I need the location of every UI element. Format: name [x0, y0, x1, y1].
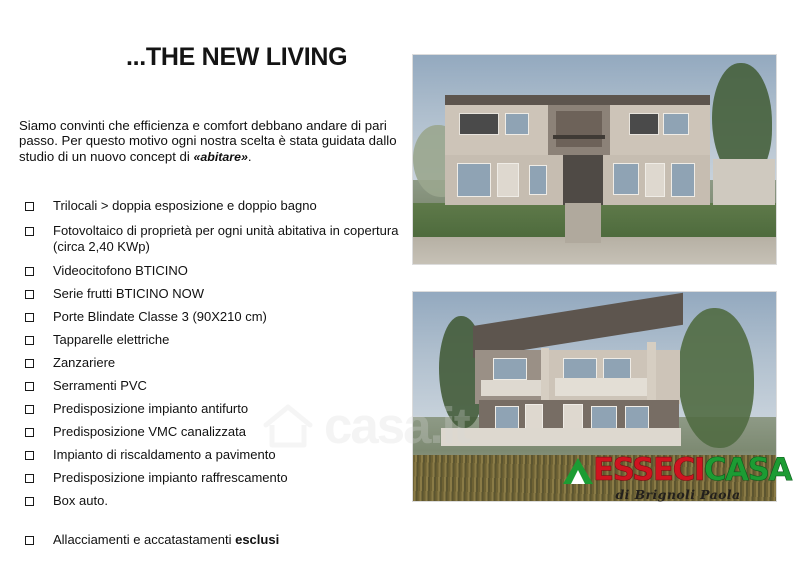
checkbox-square-icon: [25, 359, 34, 368]
feature-label: Predisposizione VMC canalizzata: [53, 424, 246, 440]
checkbox-square-icon: [25, 267, 34, 276]
list-item: Zanzariere: [19, 355, 411, 371]
page-title: ...THE NEW LIVING: [126, 43, 347, 72]
list-item: Fotovoltaico di proprietà per ogni unità…: [19, 223, 411, 255]
balcony-front-a: [481, 380, 547, 396]
feature-label: Serie frutti BTICINO NOW: [53, 286, 204, 302]
boundary-wall: [713, 159, 775, 205]
window-lower-mid: [529, 165, 547, 195]
feature-label: Fotovoltaico di proprietà per ogni unità…: [53, 223, 411, 255]
feature-label: Predisposizione impianto antifurto: [53, 401, 248, 417]
feature-label: Videocitofono BTICINO: [53, 263, 188, 279]
list-item: Trilocali > doppia esposizione e doppio …: [19, 198, 411, 214]
balcony-rail: [553, 135, 605, 139]
render-image-side: [412, 291, 777, 502]
checkbox-square-icon: [25, 474, 34, 483]
list-item: Impianto di riscaldamento a pavimento: [19, 447, 411, 463]
feature-label: Serramenti PVC: [53, 378, 147, 394]
window-upper-right: [629, 113, 659, 135]
foreground-grass: [413, 455, 776, 501]
tree-shape: [678, 308, 754, 448]
exclusion-label: Allacciamenti e accatastamenti esclusi: [53, 532, 279, 548]
front-fence: [441, 428, 681, 446]
list-item: Porte Blindate Classe 3 (90X210 cm): [19, 309, 411, 325]
feature-label: Impianto di riscaldamento a pavimento: [53, 447, 276, 463]
intro-quote: «abitare»: [194, 150, 248, 164]
exclusion-text: Allacciamenti e accatastamenti: [53, 532, 235, 547]
feature-label: Box auto.: [53, 493, 108, 509]
exclusion-item: Allacciamenti e accatastamenti esclusi: [19, 532, 411, 548]
intro-paragraph: Siamo convinti che efficienza e comfort …: [19, 118, 409, 165]
list-item: Serie frutti BTICINO NOW: [19, 286, 411, 302]
pillar-a: [541, 348, 549, 400]
window-lower-left: [457, 163, 491, 197]
feature-label: Porte Blindate Classe 3 (90X210 cm): [53, 309, 267, 325]
checkbox-square-icon: [25, 536, 34, 545]
checkbox-square-icon: [25, 497, 34, 506]
window-upper-right-2: [663, 113, 689, 135]
window-upper-b: [563, 358, 597, 380]
checkbox-square-icon: [25, 428, 34, 437]
list-item: Box auto.: [19, 493, 411, 509]
feature-label: Zanzariere: [53, 355, 115, 371]
entry-recess: [563, 155, 603, 205]
slide-canvas: ...THE NEW LIVING Siamo convinti che eff…: [0, 0, 800, 566]
walkway: [565, 203, 601, 243]
window-lower-right-2: [671, 163, 695, 197]
list-item: Tapparelle elettriche: [19, 332, 411, 348]
feature-label: Trilocali > doppia esposizione e doppio …: [53, 198, 317, 214]
list-item: Serramenti PVC: [19, 378, 411, 394]
checkbox-square-icon: [25, 451, 34, 460]
list-item: Videocitofono BTICINO: [19, 263, 411, 279]
list-item: Predisposizione impianto antifurto: [19, 401, 411, 417]
intro-text-part-two: .: [248, 149, 252, 164]
checkbox-square-icon: [25, 336, 34, 345]
checkbox-square-icon: [25, 405, 34, 414]
balcony-recess: [556, 111, 602, 147]
feature-label: Predisposizione impianto raffrescamento: [53, 470, 288, 486]
checkbox-square-icon: [25, 290, 34, 299]
feature-list: Trilocali > doppia esposizione e doppio …: [19, 198, 411, 557]
list-item: Predisposizione impianto raffrescamento: [19, 470, 411, 486]
window-upper-c: [603, 358, 631, 380]
checkbox-square-icon: [25, 202, 34, 211]
pillar-b: [647, 342, 656, 400]
checkbox-square-icon: [25, 313, 34, 322]
window-upper-left: [459, 113, 499, 135]
door-lower-left: [497, 163, 519, 197]
window-lower-right: [613, 163, 639, 195]
window-upper-a: [493, 358, 527, 380]
list-spacer: [19, 516, 411, 532]
checkbox-square-icon: [25, 382, 34, 391]
building-right-upper: [610, 105, 710, 157]
balcony-front-b: [555, 378, 649, 396]
door-lower-right: [645, 163, 665, 197]
list-item: Predisposizione VMC canalizzata: [19, 424, 411, 440]
render-image-front: [412, 54, 777, 265]
window-upper-left-2: [505, 113, 529, 135]
exclusion-emphasis: esclusi: [235, 532, 279, 547]
feature-label: Tapparelle elettriche: [53, 332, 169, 348]
checkbox-square-icon: [25, 227, 34, 236]
